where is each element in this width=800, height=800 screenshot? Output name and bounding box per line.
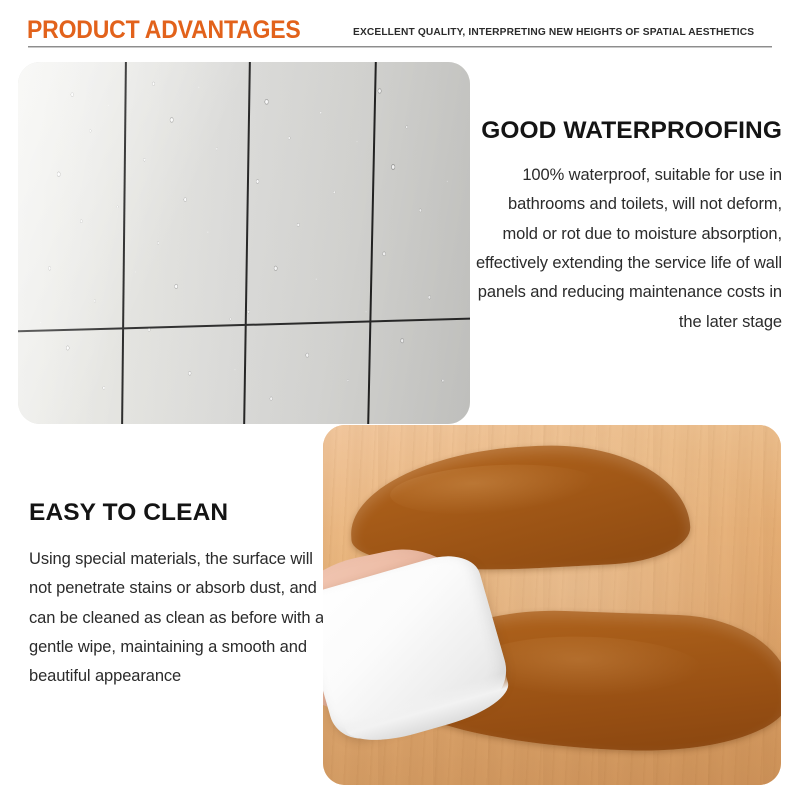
page-title: PRODUCT ADVANTAGES (27, 18, 301, 43)
easy-to-clean-body: Using special materials, the surface wil… (29, 545, 329, 692)
header-divider (28, 46, 772, 48)
waterproofing-body: 100% waterproof, suitable for use in bat… (470, 161, 782, 337)
easy-to-clean-text-block: EASY TO CLEAN Using special materials, t… (29, 500, 329, 692)
waterproofing-heading: GOOD WATERPROOFING (470, 118, 782, 145)
tile-sheen-overlay (18, 62, 470, 424)
waterproofing-image (18, 62, 470, 424)
page-subtitle: EXCELLENT QUALITY, INTERPRETING NEW HEIG… (353, 27, 754, 38)
waterproofing-text-block: GOOD WATERPROOFING 100% waterproof, suit… (470, 118, 782, 337)
easy-to-clean-image (323, 425, 781, 785)
page-header: PRODUCT ADVANTAGES EXCELLENT QUALITY, IN… (0, 0, 800, 58)
easy-to-clean-heading: EASY TO CLEAN (29, 500, 329, 527)
